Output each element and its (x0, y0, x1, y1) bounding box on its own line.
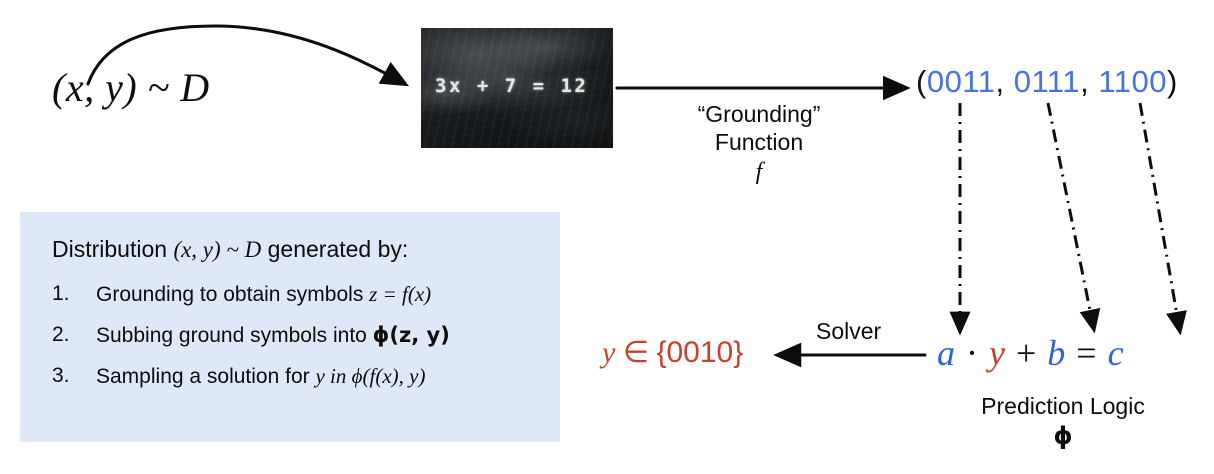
distribution-heading-math: (x, y) ~ D (173, 237, 261, 262)
distribution-heading: Distribution (x, y) ~ D generated by: (52, 236, 408, 263)
grounding-label-line1: “Grounding” (654, 100, 864, 128)
distribution-steps-list: 1.Grounding to obtain symbols z = f(x) 2… (52, 274, 542, 397)
tuple-close-paren: ) (1167, 64, 1178, 99)
grounding-function-label: “Grounding” Function f (654, 100, 864, 186)
step-text-math: z = f(x) (369, 282, 431, 306)
step-number: 2. (52, 315, 80, 355)
solution-variable: y (602, 336, 615, 369)
dashdot-arrow-symbol-2-to-b (1048, 103, 1094, 330)
step-text-prefix: Sampling a solution for (96, 365, 315, 388)
tuple-value-2: 1100 (1098, 64, 1167, 99)
prediction-logic-line1: Prediction Logic (928, 392, 1198, 421)
grounding-label-line2: Function (654, 128, 864, 156)
step-number: 1. (52, 274, 80, 314)
distribution-description-box: Distribution (x, y) ~ D generated by: 1.… (20, 212, 560, 442)
step-text-suffix: in ϕ(f(x), y) (325, 364, 426, 388)
dashdot-arrow-symbol-3-to-c (1140, 103, 1180, 332)
step-number: 3. (52, 356, 80, 396)
tuple-value-1: 0111 (1014, 64, 1080, 99)
solution-set-values: {0010} (656, 336, 743, 369)
diagram-canvas: (x, y) ~ D 3x + 7 = 12 “Grounding” Funct… (0, 0, 1214, 474)
list-item: 2.Subbing ground symbols into ϕ(z, y) (52, 315, 542, 356)
list-item: 1.Grounding to obtain symbols z = f(x) (52, 274, 542, 315)
source-distribution-label: (x, y) ~ D (52, 64, 210, 111)
solver-label: Solver (816, 318, 881, 345)
grounding-function-symbol: f (654, 158, 864, 186)
blackboard-image: 3x + 7 = 12 (421, 28, 613, 148)
step-text-math: ϕ(z, y) (373, 323, 450, 347)
equation-term-c: c (1108, 333, 1125, 373)
list-item: 3.Sampling a solution for y in ϕ(f(x), y… (52, 356, 542, 397)
step-text-prefix: Grounding to obtain symbols (96, 283, 369, 306)
equation-equals-operator: = (1076, 333, 1097, 373)
tuple-open-paren: ( (916, 64, 927, 99)
solution-set-label: y ∈ {0010} (602, 335, 743, 370)
step-text-math: y (315, 364, 324, 388)
distribution-heading-prefix: Distribution (52, 236, 173, 262)
distribution-heading-suffix: generated by: (261, 236, 408, 262)
tuple-value-0: 0011 (927, 64, 996, 99)
prediction-equation: a · y + b = c (937, 332, 1125, 374)
equation-plus-operator: + (1016, 333, 1037, 373)
tuple-separator-0: , (996, 64, 1014, 99)
prediction-logic-symbol: ϕ (928, 422, 1198, 451)
equation-dot-operator: · (966, 333, 979, 373)
prediction-logic-label: Prediction Logic ϕ (928, 392, 1198, 451)
step-text-prefix: Subbing ground symbols into (96, 324, 373, 347)
equation-term-a: a (937, 333, 956, 373)
grounded-symbol-tuple: (0011, 0111, 1100) (916, 64, 1178, 100)
chalk-equation-text: 3x + 7 = 12 (435, 75, 588, 97)
equation-term-b: b (1047, 333, 1066, 373)
tuple-separator-1: , (1080, 64, 1098, 99)
element-of-icon: ∈ (623, 336, 649, 369)
equation-term-y: y (989, 333, 1006, 373)
